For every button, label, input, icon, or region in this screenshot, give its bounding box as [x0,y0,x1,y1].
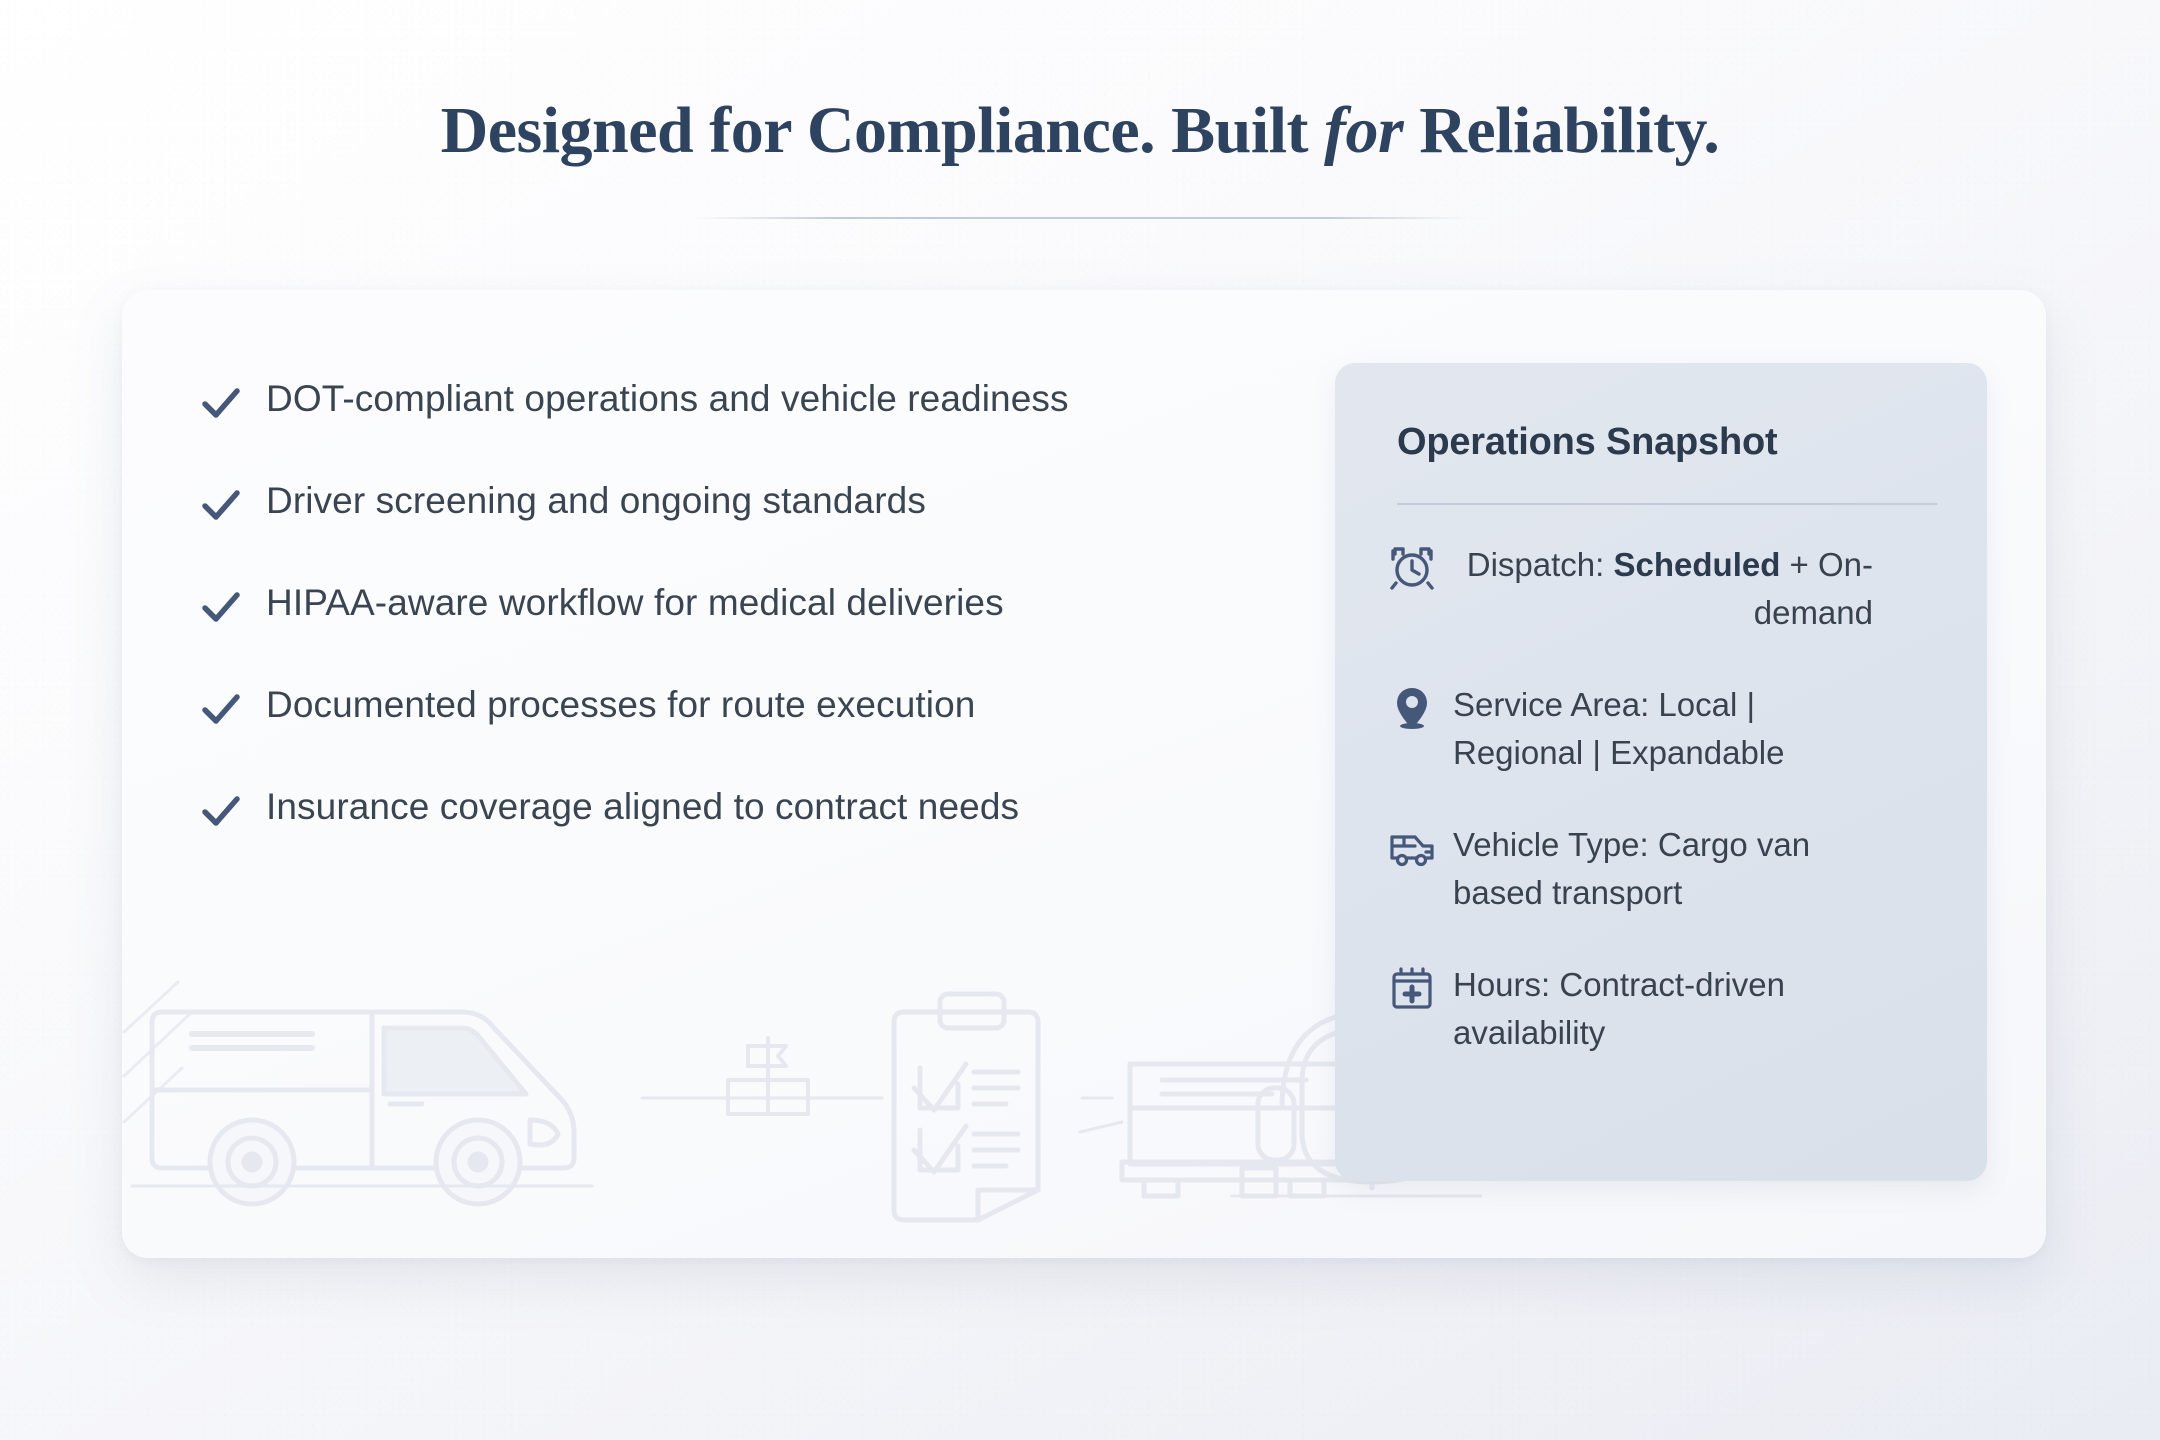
list-item: Driver screening and ongoing standards [198,478,1348,528]
snapshot-row-dispatch: Dispatch: Scheduled + On-demand [1389,541,1949,637]
check-icon [198,482,244,528]
snapshot-divider [1397,503,1937,505]
snapshot-row-text: Vehicle Type: Cargo van based transport [1453,821,1873,917]
check-icon [198,380,244,426]
page-title-part2: Reliability. [1403,94,1719,167]
signpost-illustration [642,1038,882,1114]
compliance-checklist: DOT-compliant operations and vehicle rea… [198,376,1348,834]
page-title-italic-for: for [1324,94,1403,167]
list-item-label: Documented processes for route execution [266,682,975,728]
snapshot-row-vehicle-type: Vehicle Type: Cargo van based transport [1389,821,1949,917]
snapshot-row-text: Hours: Contract-driven availability [1453,961,1873,1057]
list-item-label: HIPAA-aware workflow for medical deliver… [266,580,1004,626]
snapshot-title: Operations Snapshot [1397,421,1777,464]
list-item: Documented processes for route execution [198,682,1348,732]
snapshot-row-service-area: Service Area: Local | Regional | Expanda… [1389,681,1949,777]
snapshot-dispatch-emphasis: Scheduled [1614,546,1781,583]
alarm-clock-icon [1389,545,1435,591]
watermark-illustration [122,972,1482,1232]
operations-snapshot-panel: Operations Snapshot Dispatch: Schedul [1335,363,1987,1181]
content-card: DOT-compliant operations and vehicle rea… [122,290,2046,1258]
snapshot-row-text: Dispatch: Scheduled + On-demand [1453,541,1873,637]
page-title: Designed for Compliance. Built for Relia… [0,96,2160,165]
header: Designed for Compliance. Built for Relia… [0,96,2160,219]
list-item-label: Driver screening and ongoing standards [266,478,926,524]
cargo-van-icon [1389,825,1435,871]
snapshot-dispatch-prefix: Dispatch: [1467,546,1614,583]
clipboard-checklist-illustration [894,994,1038,1220]
map-pin-icon [1389,685,1435,731]
title-divider [694,217,1466,219]
medical-calendar-icon [1389,965,1435,1011]
list-item: Insurance coverage aligned to contract n… [198,784,1348,834]
list-item-label: DOT-compliant operations and vehicle rea… [266,376,1069,422]
crate-pallet-illustration [1080,1064,1346,1196]
check-icon [198,584,244,630]
page-title-part1: Designed for Compliance. Built [441,94,1324,167]
snapshot-row-text: Service Area: Local | Regional | Expanda… [1453,681,1873,777]
list-item: HIPAA-aware workflow for medical deliver… [198,580,1348,630]
list-item-label: Insurance coverage aligned to contract n… [266,784,1019,830]
list-item: DOT-compliant operations and vehicle rea… [198,376,1348,426]
check-icon [198,686,244,732]
cargo-van-illustration [132,1012,592,1204]
snapshot-list: Dispatch: Scheduled + On-demand Service … [1389,541,1949,1057]
check-icon [198,788,244,834]
snapshot-row-hours: Hours: Contract-driven availability [1389,961,1949,1057]
